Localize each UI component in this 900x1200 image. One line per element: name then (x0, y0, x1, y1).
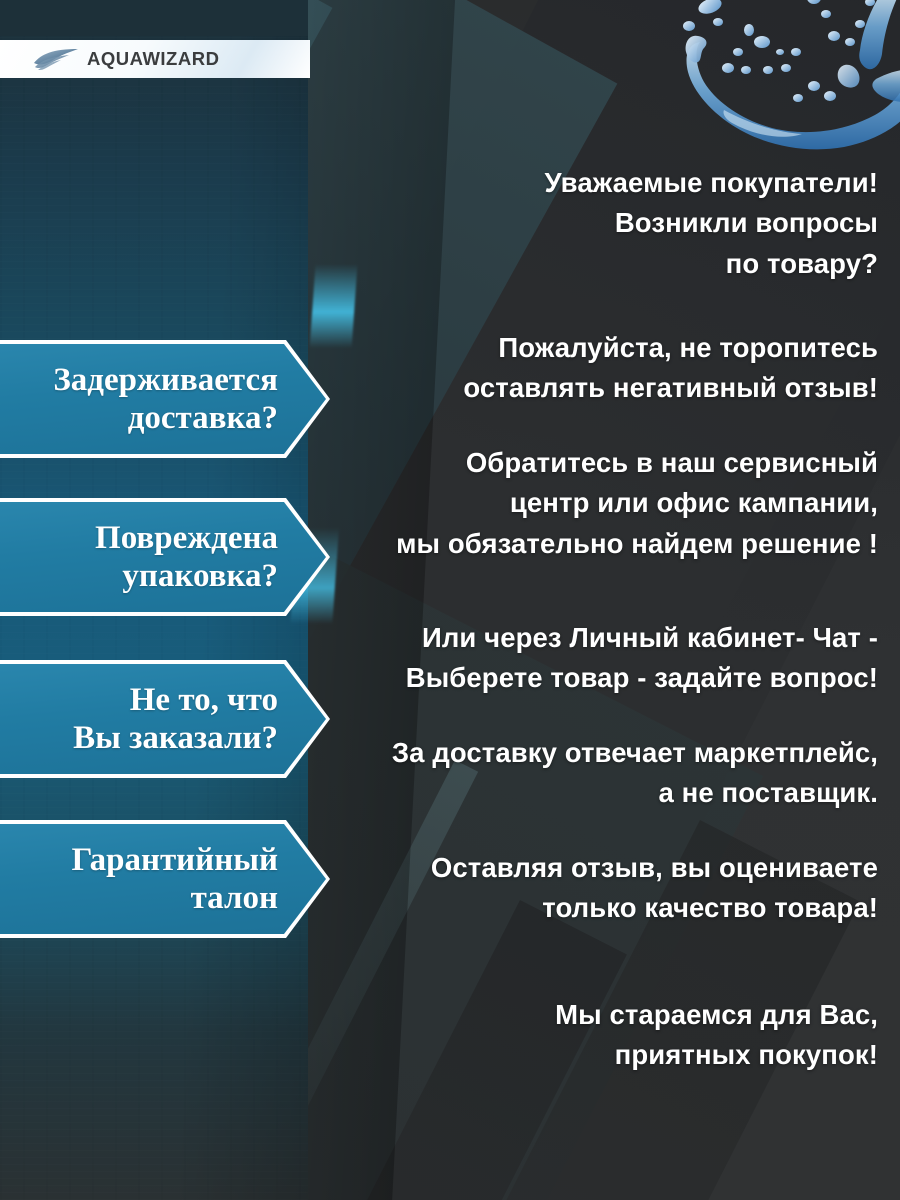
banner-warranty-card-label: Гарантийный талон (0, 820, 284, 938)
banner-wrong-item[interactable]: Не то, что Вы заказали? (0, 660, 330, 778)
message-paragraph-review-quality: Оставляя отзыв, вы оцениваете только кач… (318, 848, 878, 929)
banner-damaged-packaging-label: Повреждена упаковка? (0, 498, 284, 616)
brand-logo-bar: AQUAWIZARD (0, 40, 310, 78)
message-paragraph-chat: Или через Личный кабинет- Чат - Выберете… (318, 618, 878, 699)
banner-delivery-delayed[interactable]: Задерживается доставка? (0, 340, 330, 458)
brand-logo-text: AQUAWIZARD (87, 48, 219, 70)
left-panel-top-strip (0, 0, 308, 36)
banner-delivery-delayed-label: Задерживается доставка? (0, 340, 284, 458)
message-paragraph-marketplace: За доставку отвечает маркетплейс, а не п… (318, 733, 878, 814)
message-paragraph-closing: Мы стараемся для Вас, приятных покупок! (318, 995, 878, 1076)
message-paragraph-no-rush: Пожалуйста, не торопитесь оставлять нега… (318, 328, 878, 409)
wave-icon (33, 48, 79, 70)
banner-damaged-packaging[interactable]: Повреждена упаковка? (0, 498, 330, 616)
banner-wrong-item-label: Не то, что Вы заказали? (0, 660, 284, 778)
infographic-card: AQUAWIZARD Задерживается доставка? Повре… (0, 0, 900, 1200)
message-paragraph-greeting: Уважаемые покупатели! Возникли вопросы п… (318, 163, 878, 284)
message-paragraph-service-center: Обратитесь в наш сервисный центр или офи… (318, 443, 878, 564)
banner-warranty-card[interactable]: Гарантийный талон (0, 820, 330, 938)
